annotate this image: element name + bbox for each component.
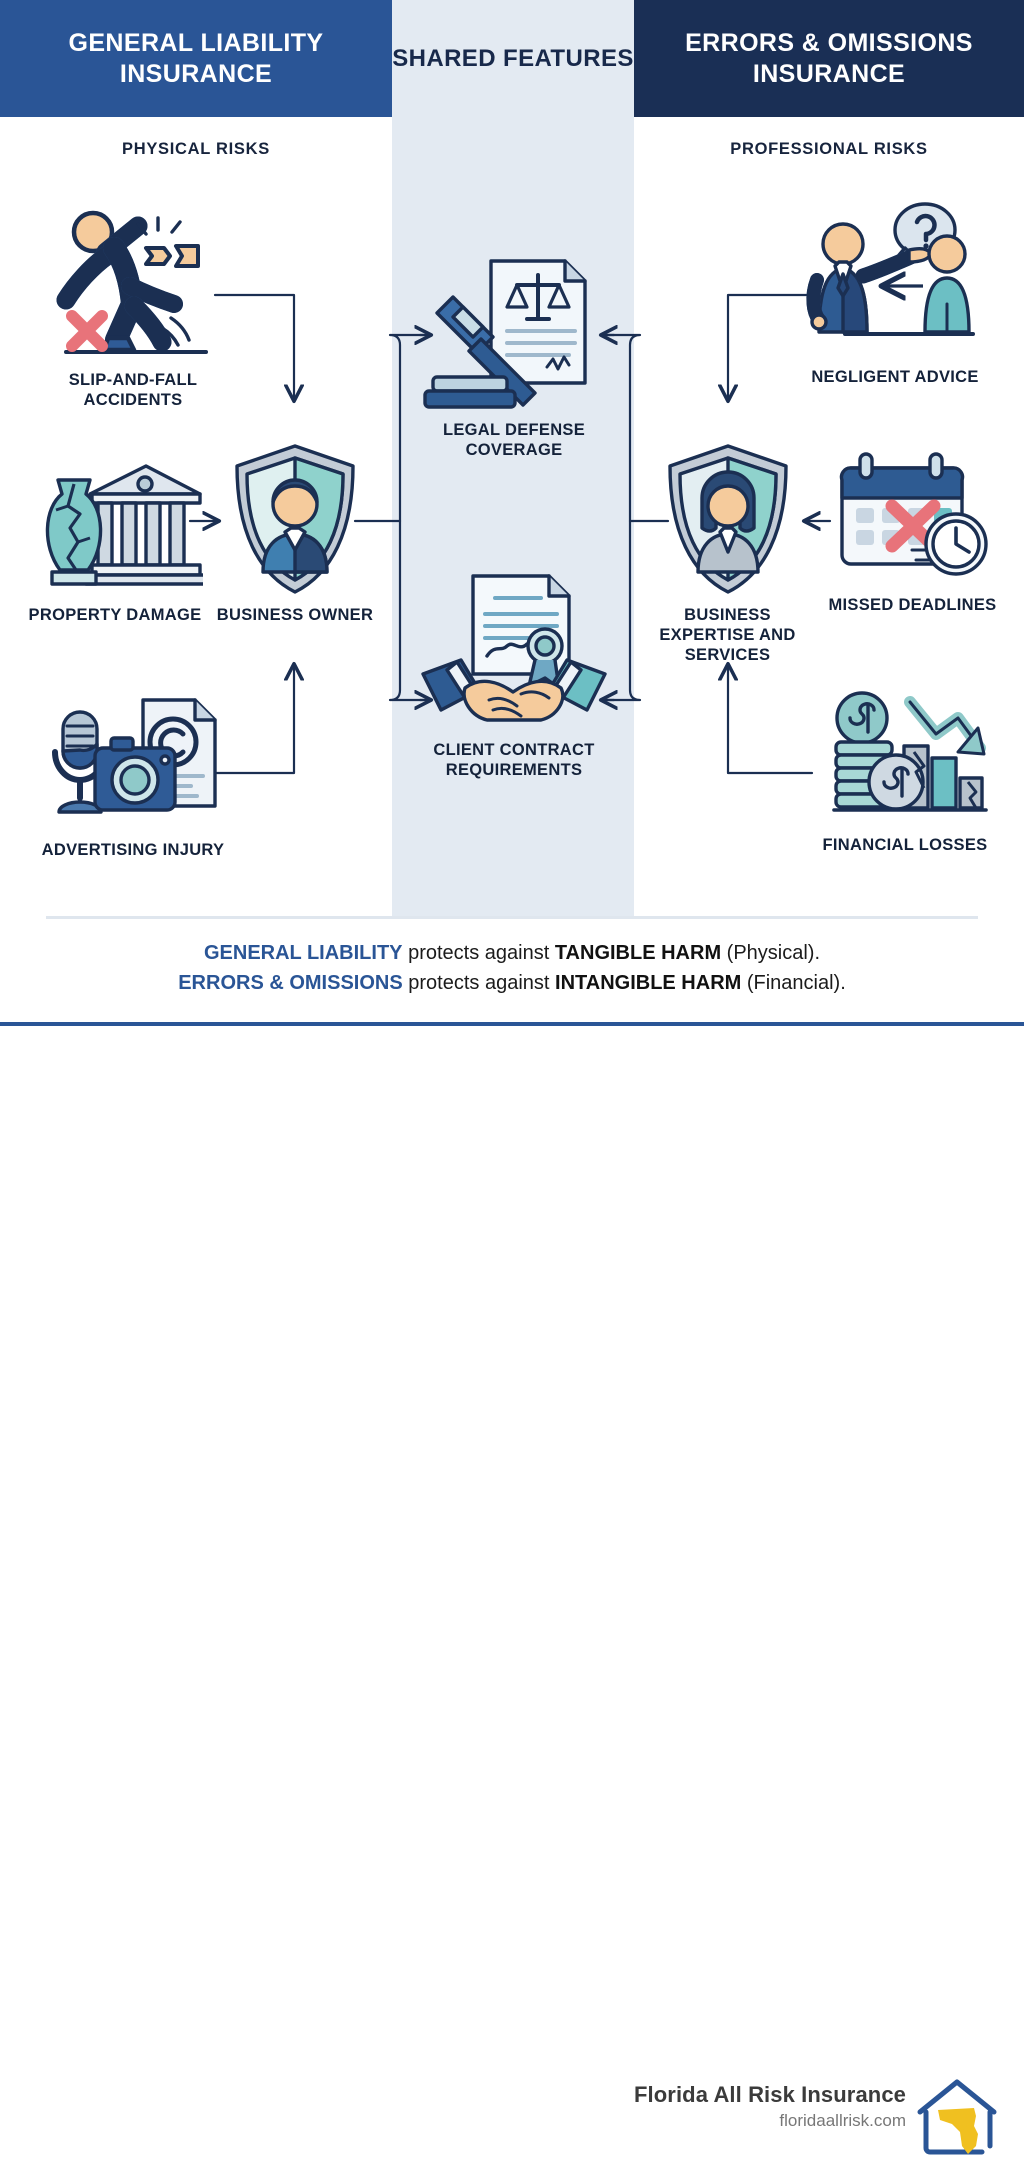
- microphone-camera-copyright-icon: [28, 690, 238, 835]
- footer: Florida All Risk Insurance floridaallris…: [0, 1026, 1024, 1154]
- node-label: ADVERTISING INJURY: [28, 841, 238, 861]
- calendar-x-clock-icon: [825, 450, 1000, 590]
- node-client-contract: CLIENT CONTRACT REQUIREMENTS: [398, 570, 630, 781]
- node-missed-deadlines: MISSED DEADLINES: [825, 450, 1000, 616]
- handshake-certificate-icon: [398, 570, 630, 735]
- gavel-scales-document-icon: [400, 255, 628, 415]
- shield-male-person-icon: [215, 440, 375, 600]
- header: GENERAL LIABILITY INSURANCE SHARED FEATU…: [0, 0, 1024, 117]
- brand-url: floridaallrisk.com: [634, 2111, 906, 2131]
- header-errors-omissions-title: ERRORS & OMISSIONS INSURANCE: [634, 28, 1024, 89]
- header-errors-omissions: ERRORS & OMISSIONS INSURANCE: [634, 0, 1024, 117]
- house-florida-logo: [912, 2076, 1002, 2158]
- node-advertising-injury: ADVERTISING INJURY: [28, 690, 238, 861]
- summary-tail-2: (Financial).: [741, 972, 845, 994]
- node-label: FINANCIAL LOSSES: [810, 836, 1000, 856]
- subtitle-professional-risks: PROFESSIONAL RISKS: [634, 140, 1024, 159]
- node-label: LEGAL DEFENSE COVERAGE: [400, 421, 628, 461]
- columns-divider: [46, 916, 978, 919]
- summary-bold-intangible: INTANGIBLE HARM: [555, 972, 741, 994]
- node-business-owner-hub: BUSINESS OWNER: [215, 440, 375, 626]
- advisor-pointing-question-icon: [790, 200, 1000, 362]
- node-label: CLIENT CONTRACT REQUIREMENTS: [398, 741, 630, 781]
- node-label: PROPERTY DAMAGE: [20, 606, 210, 626]
- node-financial-losses: FINANCIAL LOSSES: [810, 690, 1000, 856]
- node-label: SLIP-AND-FALL ACCIDENTS: [28, 371, 238, 411]
- node-business-expertise-hub: BUSINESS EXPERTISE AND SERVICES: [640, 440, 815, 665]
- node-legal-defense: LEGAL DEFENSE COVERAGE: [400, 255, 628, 461]
- node-slip-and-fall: SLIP-AND-FALL ACCIDENTS: [28, 200, 238, 411]
- summary-mid-1: protects against: [403, 942, 555, 964]
- node-negligent-advice: NEGLIGENT ADVICE: [790, 200, 1000, 388]
- summary-text: GENERAL LIABILITY protects against TANGI…: [0, 938, 1024, 998]
- header-general-liability-title: GENERAL LIABILITY INSURANCE: [0, 28, 392, 89]
- summary-accent-gl: GENERAL LIABILITY: [204, 942, 403, 964]
- header-general-liability: GENERAL LIABILITY INSURANCE: [0, 0, 392, 117]
- summary-accent-eo: ERRORS & OMISSIONS: [178, 972, 402, 994]
- node-label: BUSINESS EXPERTISE AND SERVICES: [640, 606, 815, 665]
- broken-vase-building-icon: [20, 450, 210, 600]
- summary-bold-tangible: TANGIBLE HARM: [555, 942, 721, 964]
- brand-block: Florida All Risk Insurance floridaallris…: [634, 2082, 906, 2131]
- header-shared-features-title: SHARED FEATURES: [392, 44, 634, 73]
- summary-tail-1: (Physical).: [721, 942, 820, 964]
- falling-person-icon: [28, 200, 238, 365]
- coins-declining-chart-icon: [810, 690, 1000, 830]
- brand-name: Florida All Risk Insurance: [634, 2082, 906, 2108]
- summary-mid-2: protects against: [403, 972, 555, 994]
- subtitle-physical-risks: PHYSICAL RISKS: [0, 140, 392, 159]
- summary-line-2: ERRORS & OMISSIONS protects against INTA…: [0, 968, 1024, 998]
- node-label: NEGLIGENT ADVICE: [790, 368, 1000, 388]
- summary-line-1: GENERAL LIABILITY protects against TANGI…: [0, 938, 1024, 968]
- node-label: BUSINESS OWNER: [215, 606, 375, 626]
- shield-female-person-icon: [640, 440, 815, 600]
- node-label: MISSED DEADLINES: [825, 596, 1000, 616]
- node-property-damage: PROPERTY DAMAGE: [20, 450, 210, 626]
- header-shared-features: SHARED FEATURES: [392, 0, 634, 117]
